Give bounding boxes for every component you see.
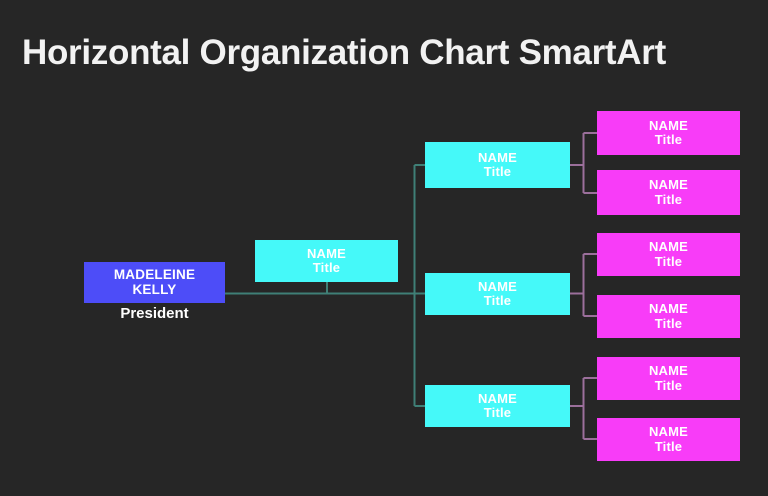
org-chart-canvas: Horizontal Organization Chart SmartArt — [0, 0, 768, 496]
org-node-manager-3-report-1-title: Title — [655, 379, 683, 393]
org-node-manager-2[interactable]: NAME Title — [425, 273, 570, 315]
org-node-manager-1-name: NAME — [478, 151, 517, 165]
org-node-manager-1-report-1[interactable]: NAME Title — [597, 111, 740, 155]
org-node-assistant[interactable]: NAME Title — [255, 240, 398, 282]
teal-connector-group — [225, 165, 425, 406]
org-node-manager-2-report-1[interactable]: NAME Title — [597, 233, 740, 276]
org-node-manager-1-report-2-name: NAME — [649, 178, 688, 192]
org-node-manager-1-title: Title — [484, 165, 512, 179]
org-node-manager-3-title: Title — [484, 406, 512, 420]
org-node-manager-2-report-1-name: NAME — [649, 240, 688, 254]
org-node-manager-3-name: NAME — [478, 392, 517, 406]
org-node-manager-3-report-2-name: NAME — [649, 425, 688, 439]
purple-connector-group — [570, 133, 597, 439]
org-node-manager-3-report-1[interactable]: NAME Title — [597, 357, 740, 400]
org-node-root-role: President — [84, 305, 225, 322]
org-node-root-name-line1: MADELEINE — [114, 268, 195, 283]
org-node-root-name-line2: KELLY — [132, 283, 176, 298]
org-node-manager-1-report-1-name: NAME — [649, 119, 688, 133]
org-node-manager-1-report-1-title: Title — [655, 133, 683, 147]
org-node-manager-2-title: Title — [484, 294, 512, 308]
org-node-assistant-title: Title — [313, 261, 341, 275]
org-node-manager-2-report-2-name: NAME — [649, 302, 688, 316]
org-node-manager-1-report-2[interactable]: NAME Title — [597, 170, 740, 215]
org-node-manager-1-report-2-title: Title — [655, 193, 683, 207]
org-node-root[interactable]: MADELEINE KELLY — [84, 262, 225, 303]
org-node-manager-3-report-1-name: NAME — [649, 364, 688, 378]
org-node-manager-2-report-2[interactable]: NAME Title — [597, 295, 740, 338]
org-node-manager-2-report-2-title: Title — [655, 317, 683, 331]
org-node-manager-2-name: NAME — [478, 280, 517, 294]
org-node-manager-2-report-1-title: Title — [655, 255, 683, 269]
org-node-manager-1[interactable]: NAME Title — [425, 142, 570, 188]
org-node-manager-3[interactable]: NAME Title — [425, 385, 570, 427]
org-node-assistant-name: NAME — [307, 247, 346, 261]
org-node-manager-3-report-2-title: Title — [655, 440, 683, 454]
org-node-manager-3-report-2[interactable]: NAME Title — [597, 418, 740, 461]
